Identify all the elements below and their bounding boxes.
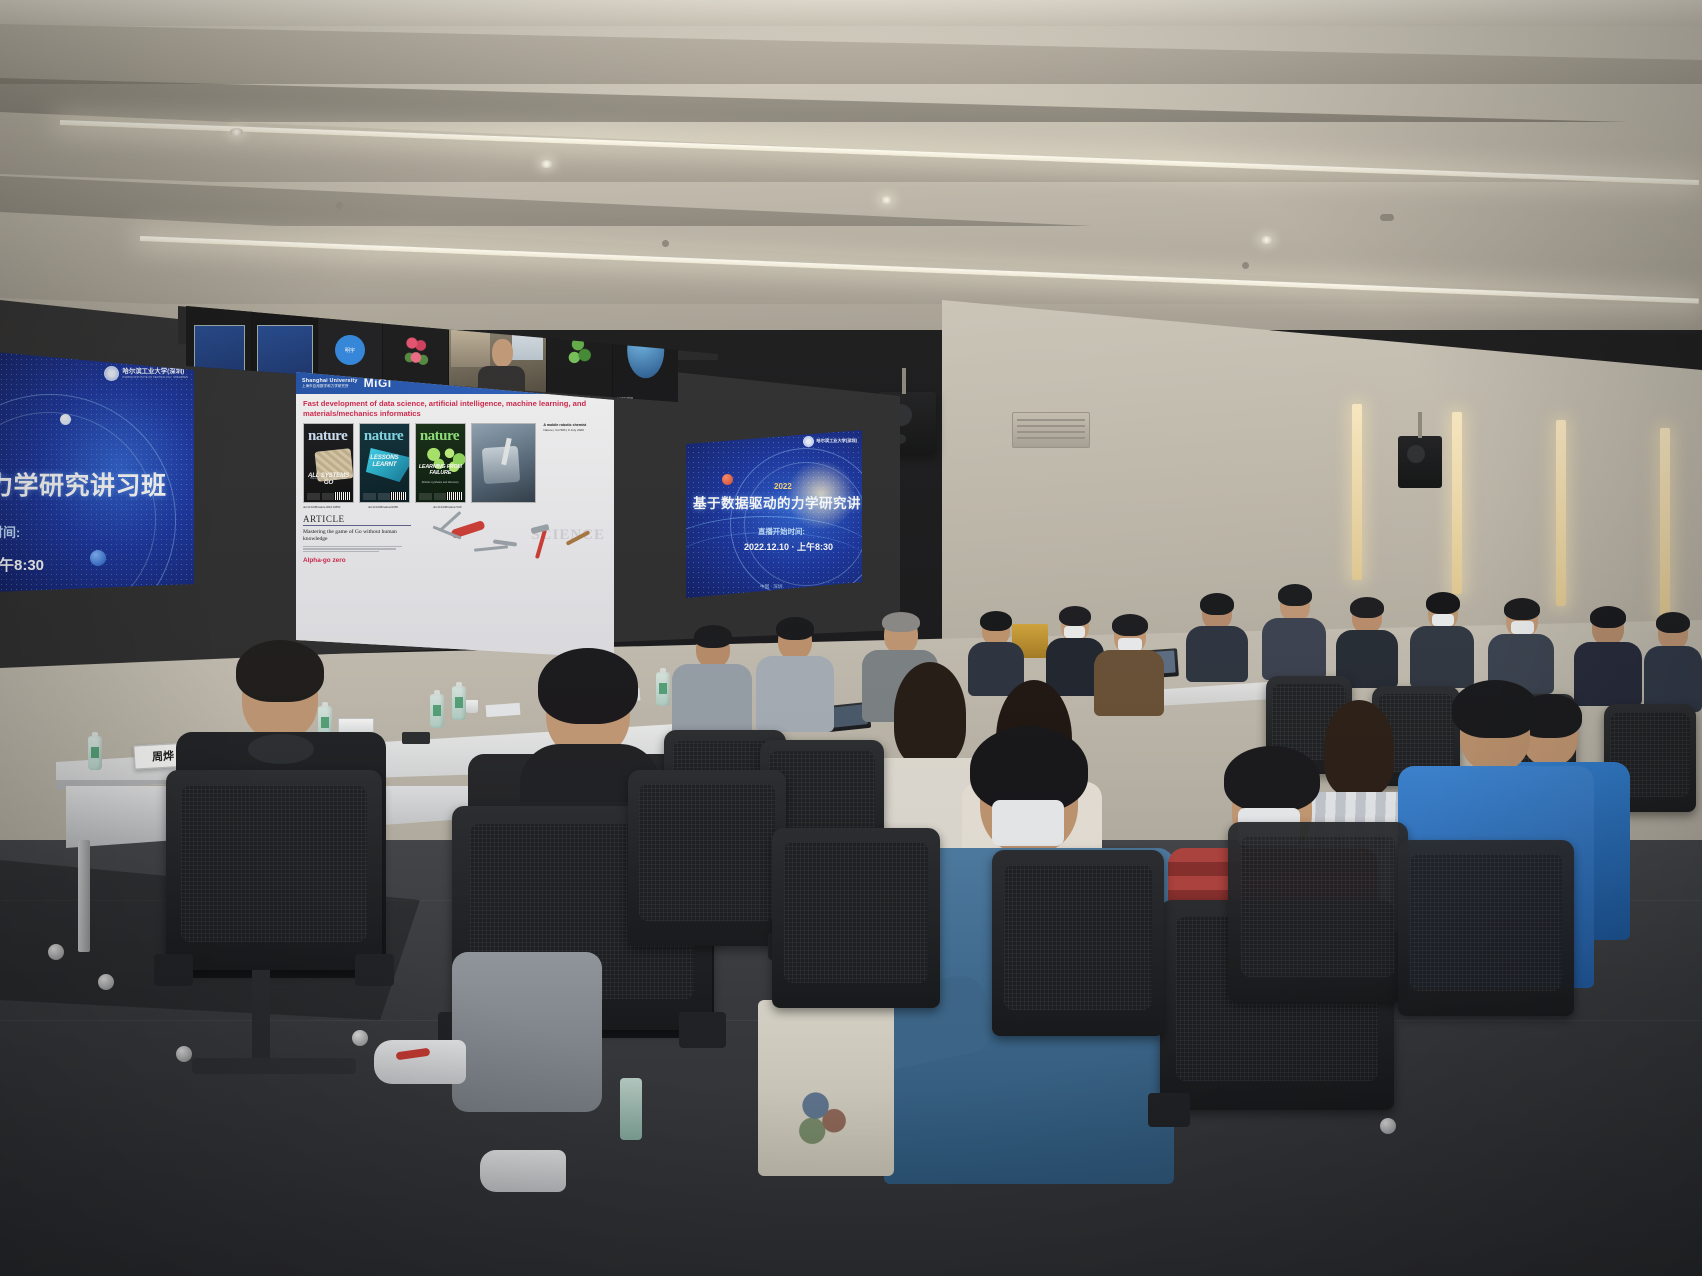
alphago-zero-highlight: Alpha-go zero — [303, 557, 411, 564]
right-projection-screen: 哈尔滨工业大学(深圳) 2022 基于数据驱动的力学研究讲习班 直播开始时间: … — [686, 430, 862, 598]
nature-cover-3: nature LEARNING FROM FAILURE Robotic syn… — [415, 423, 466, 503]
doi-2: doi:10.1038/nature21056 — [368, 505, 428, 509]
foreground-plaid-hair — [1224, 746, 1320, 812]
mobile-robot-body — [482, 446, 520, 484]
nature-cover-3-sub: Robotic synthesis and discovery — [420, 481, 461, 484]
chair-mid-5-mesh — [1004, 865, 1152, 1010]
right-screen-org-cn: 哈尔滨工业大学(深圳) — [817, 439, 857, 444]
ceiling-downlight-3 — [880, 196, 893, 204]
left-screen-title: 力学研究讲习班 — [0, 466, 167, 502]
photo-caption: A mobile robotic chemist Nature | Vol 58… — [541, 423, 607, 432]
slide-body: Fast development of data science, artifi… — [296, 394, 614, 658]
smoke-detector — [1380, 214, 1394, 221]
chair-foreground-left-base — [192, 1058, 356, 1074]
audience-person-c3-torso — [1094, 650, 1164, 716]
right-screen-year: 2022 — [774, 482, 792, 491]
article-title: Mastering the game of Go without human k… — [303, 529, 411, 544]
audience-person-b5-mask — [1511, 621, 1534, 634]
front-table-caster-2 — [98, 974, 114, 990]
nature-wordmark-3: nature — [420, 428, 459, 445]
audience-person-m2-hair — [776, 617, 814, 640]
nature-wordmark-1: nature — [308, 428, 347, 445]
article-rule — [303, 525, 411, 526]
chair-row-right-2-mesh — [1410, 854, 1561, 991]
nature-cover-2-band: LESSONS LEARNT — [363, 454, 406, 468]
article-author-lines — [303, 546, 411, 553]
right-screen-time: 2022.12.10 · 上午8:30 — [744, 540, 833, 553]
right-screen-footer: 中国 · 深圳 — [760, 584, 782, 590]
chair-foreground-left — [166, 770, 382, 970]
audience-person-c3-hair — [1112, 614, 1148, 636]
chair-foreground-left-arm-l — [154, 954, 193, 986]
nature-cover-1-band: ALL SYSTEMS GO — [307, 472, 350, 486]
foreground-blue-coat-mask — [992, 800, 1064, 846]
barcode-icon-1 — [334, 492, 350, 500]
chair-foreground-left-caster-2 — [352, 1030, 368, 1046]
audience-person-c3 — [1094, 618, 1164, 716]
left-screen-org-en: HARBIN INSTITUTE OF TECHNOLOGY, SHENZHEN — [122, 376, 188, 379]
robotic-chemist-photo — [471, 423, 537, 503]
sprinkler-head-2 — [662, 240, 669, 247]
right-screen-orb-coral — [722, 474, 733, 485]
left-screen-orb-white — [60, 414, 71, 425]
audience-person-b1-torso — [1186, 626, 1248, 682]
saw-icon — [474, 545, 508, 552]
audience-person-b1-hair — [1200, 593, 1234, 615]
audience-person-b7-hair — [1656, 612, 1690, 633]
wall-accent-light-4 — [1660, 428, 1670, 618]
nature-cover-2: nature LESSONS LEARNT — [359, 423, 410, 503]
chair-foreground-left-caster-1 — [176, 1046, 192, 1062]
article-left-column: ARTICLE Mastering the game of Go without… — [303, 514, 411, 564]
left-screen-time: 上午8:30 — [0, 554, 44, 575]
foreground-hoodie-legs — [452, 952, 602, 1112]
chair-foreground-center-arm-r — [679, 1012, 726, 1048]
doi-3: doi:10.1038/nature7419 — [433, 505, 493, 509]
water-bottle-3 — [430, 694, 444, 728]
ceiling-speaker-right — [1398, 436, 1442, 488]
audience-person-m3-hair — [694, 625, 732, 648]
ceiling-band-1 — [0, 0, 1702, 26]
doi-1: doi:10.1038/nature.2016.19553 — [303, 505, 363, 509]
audience-person-m1-hair — [882, 612, 920, 632]
audience-person-b4-torso — [1410, 626, 1474, 688]
audience-person-b7-torso — [1644, 646, 1702, 712]
chair-mid-3 — [628, 770, 786, 946]
tools-illustration: SCIENCE — [417, 514, 607, 564]
right-screen-title: 基于数据驱动的力学研究讲习班 — [693, 492, 862, 512]
left-screen-time-label: 时间: — [0, 522, 20, 541]
audience-person-c2-hair — [1059, 606, 1091, 626]
water-bottle-4 — [452, 686, 466, 720]
vc-tile-2-shared-screen — [257, 325, 313, 377]
audience-person-c2-mask — [1064, 626, 1085, 638]
ceiling-downlight-2 — [540, 160, 553, 168]
wall-accent-light-2 — [1452, 412, 1462, 594]
chair-foreground-right-caster — [1380, 1118, 1396, 1134]
ceiling-downlight-4 — [1260, 236, 1273, 244]
barcode-icon-3 — [446, 492, 462, 500]
audience-person-b5-hair — [1504, 598, 1540, 620]
foreground-right-blue-hair — [1452, 680, 1538, 738]
doi-row: doi:10.1038/nature.2016.19553 doi:10.103… — [303, 505, 607, 509]
barcode-icon-2 — [390, 492, 406, 500]
left-projection-screen: 哈尔滨工业大学(深圳) HARBIN INSTITUTE OF TECHNOLO… — [0, 352, 194, 592]
nature-cover-1: nature The computer that mastered Go ALL… — [303, 423, 354, 503]
slide-university-cn: 上海市应用数学和力学研究所 — [302, 384, 358, 388]
slide-title: Fast development of data science, artifi… — [303, 399, 607, 419]
audience-person-b6-hair — [1590, 606, 1626, 628]
sprinkler-head-1 — [336, 202, 343, 209]
front-table-caster-1 — [48, 944, 64, 960]
foreground-hoodie-shoe-left — [374, 1040, 466, 1084]
conference-room-photo: 哈尔滨工业大学(深圳) HARBIN INSTITUTE OF TECHNOLO… — [0, 0, 1702, 1276]
audience-person-b7 — [1644, 616, 1702, 712]
audience-person-b1 — [1186, 596, 1248, 682]
article-block: ARTICLE Mastering the game of Go without… — [303, 514, 607, 564]
foreground-man-suit-hair — [236, 640, 324, 702]
vc-tile-3-avatar: 明宇 — [335, 335, 365, 365]
foreground-man-suit-collar — [248, 734, 314, 764]
chair-foreground-right-arm-l — [1148, 1093, 1190, 1127]
journal-cover-row: nature The computer that mastered Go ALL… — [303, 423, 607, 503]
photo-caption-sub: Nature | Vol 583 | 9 July 2020 — [543, 428, 583, 432]
hit-crest-icon — [104, 366, 119, 381]
left-screen-org-cn: 哈尔滨工业大学(深圳) — [122, 368, 188, 375]
tote-bag-print — [782, 1072, 866, 1156]
left-screen-orb-blue — [90, 550, 106, 566]
audience-person-b3-hair — [1350, 597, 1384, 618]
foreground-hoodie-hair — [538, 648, 638, 724]
audience-person-b4-hair — [1426, 592, 1460, 614]
audience-person-m2 — [756, 622, 834, 732]
article-kicker: ARTICLE — [303, 514, 411, 524]
chair-foreground-left-column — [252, 970, 269, 1062]
sprinkler-head-3 — [1242, 262, 1249, 269]
nature-cover-3-band: LEARNING FROM FAILURE — [419, 464, 462, 476]
audience-person-b3 — [1336, 600, 1398, 688]
desk-item-dark — [402, 732, 430, 744]
audience-person-c1-hair — [980, 611, 1012, 631]
chair-mid-4 — [772, 828, 940, 1008]
main-presentation-slide[interactable]: Shanghai University 上海市应用数学和力学研究所 MiGi F… — [296, 372, 614, 658]
chair-foreground-left-arm-r — [355, 954, 394, 986]
ceiling-downlight-1 — [230, 128, 243, 136]
chair-row-right-1-mesh — [1241, 836, 1396, 976]
audience-person-b2-torso — [1262, 618, 1326, 680]
vc-tile-5-head — [492, 339, 513, 368]
chair-mid-4-mesh — [784, 842, 929, 982]
chair-row-right-1 — [1228, 822, 1408, 1002]
audience-person-b4 — [1410, 596, 1474, 688]
speaker-mount-bracket-left — [902, 368, 906, 394]
vc-tile-4-flower-avatar — [396, 320, 436, 380]
foreground-hoodie-shoe-right — [480, 1150, 566, 1192]
right-screen-university-logo: 哈尔滨工业大学(深圳) — [803, 436, 857, 447]
hit-crest-icon-right — [803, 436, 814, 447]
wall-accent-light-1 — [1352, 404, 1362, 580]
right-screen-time-label: 直播开始时间: — [758, 526, 805, 537]
nature-wordmark-2: nature — [364, 428, 403, 445]
chair-row-right-2 — [1398, 840, 1574, 1016]
audience-person-b2 — [1262, 588, 1326, 680]
water-bottle-1 — [88, 736, 102, 770]
speaker-mount-bracket-right — [1418, 412, 1422, 438]
ac-vent — [1012, 412, 1090, 448]
chair-mid-5 — [992, 850, 1164, 1036]
vc-tile-7-globe-avatar — [627, 322, 665, 378]
water-bottle-floor — [620, 1078, 642, 1140]
chair-mid-3-mesh — [639, 784, 775, 921]
audience-person-b2-hair — [1278, 584, 1312, 606]
front-table-leg-left — [78, 840, 90, 952]
wall-accent-light-3 — [1556, 420, 1566, 606]
audience-person-m2-torso — [756, 656, 834, 732]
audience-person-b4-mask — [1432, 614, 1454, 626]
chair-foreground-left-mesh — [181, 786, 367, 942]
